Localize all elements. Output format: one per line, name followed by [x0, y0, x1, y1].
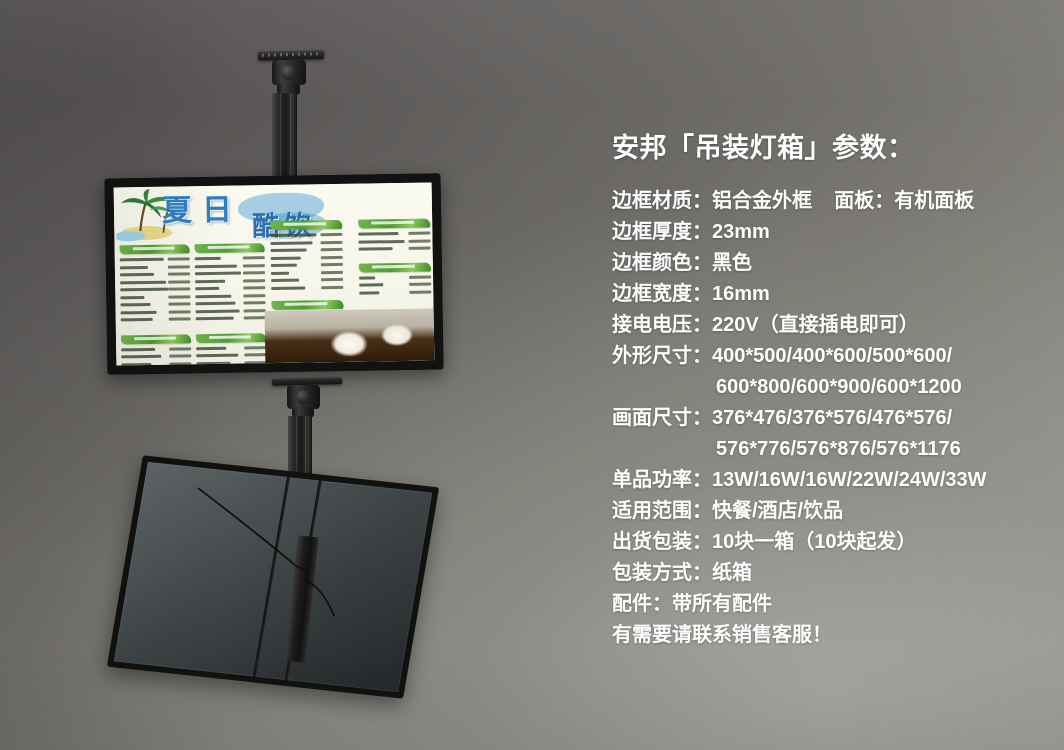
spec-line: 边框材质：铝合金外框 面板：有机面板: [612, 186, 1042, 217]
spec-line: 画面尺寸：376*476/376*576/476*576/: [612, 403, 1042, 434]
section-header: [121, 334, 191, 344]
lower-joint-bolt: [296, 390, 310, 404]
spec-line: 包装方式：纸箱: [612, 558, 1042, 589]
pole-seam: [290, 93, 291, 185]
spec-title: 安邦「吊装灯箱」参数：: [612, 126, 1042, 165]
section-header: [270, 220, 342, 230]
product-spec-panel: 安邦「吊装灯箱」参数： 边框材质：铝合金外框 面板：有机面板边框厚度：23mm边…: [612, 126, 1042, 651]
headline-char-1: 夏: [162, 196, 192, 226]
spec-line: 有需要请联系销售客服！: [612, 620, 1042, 651]
spec-line: 600*800/600*900/600*1200: [612, 372, 1042, 403]
spec-line: 配件：带所有配件: [612, 589, 1042, 620]
menu-column-2: [195, 243, 267, 365]
menu-column-1: [120, 244, 192, 365]
power-cable: [120, 470, 440, 690]
spec-line: 边框颜色：黑色: [612, 248, 1042, 279]
coffee-photo: [265, 308, 435, 363]
coffee-beans-image: [265, 326, 352, 363]
section-header: [271, 300, 343, 310]
lightbox-display-surface: 夏 日 酷 饮: [114, 183, 435, 366]
section-header: [195, 243, 265, 253]
spec-line: 边框厚度：23mm: [612, 217, 1042, 248]
spec-line: 576*776/576*876/576*1176: [612, 434, 1042, 465]
spec-line: 出货包装：10块一箱（10块起发）: [612, 527, 1042, 558]
menu-poster: 夏 日 酷 饮: [114, 183, 435, 366]
section-header: [358, 219, 430, 229]
spec-line: 单品功率：13W/16W/16W/22W/24W/33W: [612, 465, 1042, 496]
spec-line: 边框宽度：16mm: [612, 279, 1042, 310]
spec-line: 外形尺寸：400*500/400*600/500*600/: [612, 341, 1042, 372]
spec-lines-list: 边框材质：铝合金外框 面板：有机面板边框厚度：23mm边框颜色：黑色边框宽度：1…: [612, 186, 1042, 651]
section-header: [196, 333, 266, 343]
upper-support-pole: [272, 93, 297, 185]
spec-line: 适用范围：快餐/酒店/饮品: [612, 496, 1042, 527]
menu-lightbox-front[interactable]: 夏 日 酷 饮: [104, 173, 443, 374]
headline-char-2: 日: [202, 196, 232, 226]
pole-seam: [280, 93, 281, 185]
mount-plate-screw-holes: [262, 52, 320, 56]
top-joint-bolt: [281, 65, 296, 80]
spec-line: 接电电压：220V（直接插电即可）: [612, 310, 1042, 341]
product-photo-canvas: 夏 日 酷 饮: [0, 0, 1064, 750]
section-header: [359, 262, 431, 272]
section-header: [120, 244, 190, 254]
